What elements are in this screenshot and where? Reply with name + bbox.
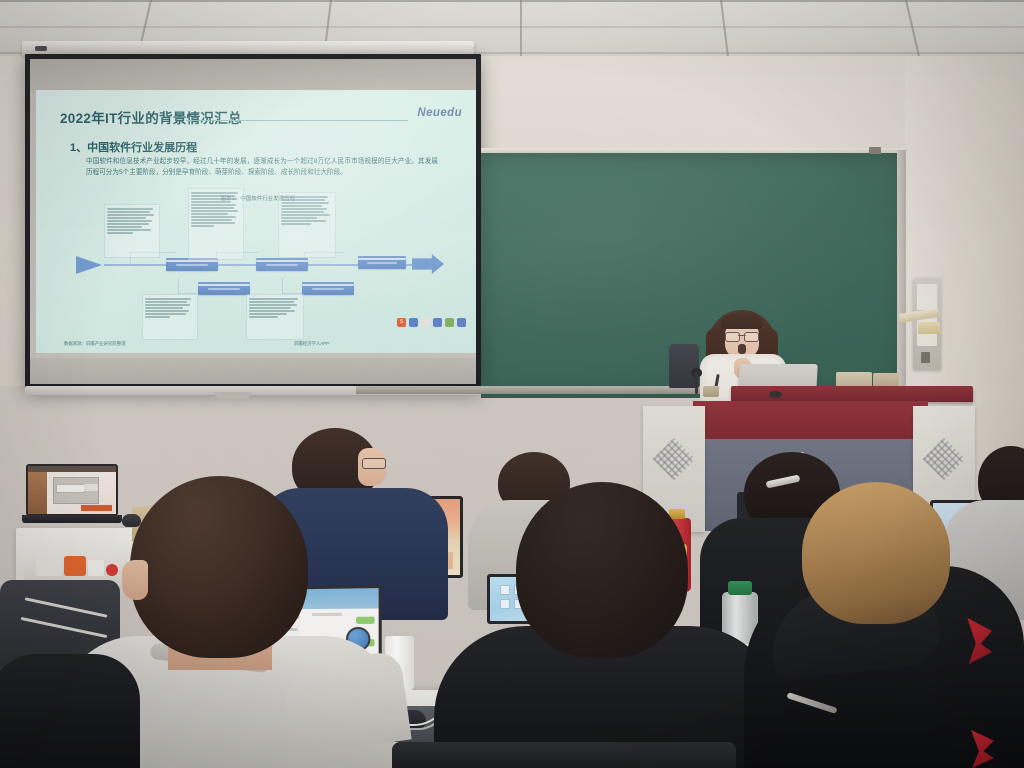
screen-pull-knob[interactable] (35, 46, 47, 51)
title-underline (186, 120, 408, 121)
stage-text-block-2 (142, 294, 198, 340)
slide-section-heading: 1、中国软件行业发展历程 (70, 139, 197, 155)
app-logo-3-icon (433, 318, 442, 327)
student-bottom-left-shoulder (0, 654, 140, 768)
projection-screen: 2022年IT行业的背景情况汇总 Neuedu 1、中国软件行业发展历程 中国软… (25, 54, 481, 389)
student-foreground-left-ear (122, 560, 148, 600)
timeline-diagram (68, 202, 450, 334)
stage-text-block-3 (188, 188, 244, 260)
app-logo-s-icon: S (397, 318, 406, 327)
student-bottom-edge (392, 742, 736, 768)
student-foreground-left-head (130, 476, 308, 658)
stage-text-block-1 (104, 204, 160, 258)
classroom-photo-scene: 2022年IT行业的背景情况汇总 Neuedu 1、中国软件行业发展历程 中国软… (0, 0, 1024, 768)
timeline-end-arrow-icon (412, 254, 444, 274)
shelf-items (30, 556, 126, 578)
source-app-logos: S (397, 318, 466, 327)
slide-title: 2022年IT行业的背景情况汇总 (60, 107, 242, 127)
instructor-glasses-icon (725, 332, 759, 340)
timeline-node-4 (302, 282, 354, 295)
app-logo-5-icon (457, 318, 466, 327)
laptop-left-screen (28, 466, 116, 514)
microphone-stand (695, 372, 698, 394)
lectern-top-rail (731, 386, 973, 402)
app-logo-1-icon (409, 318, 418, 327)
diamond-pattern-icon (923, 438, 965, 480)
slide-footer-source: 数据来源：前瞻产业研究院整理 (64, 341, 125, 347)
stage-text-block-4 (246, 294, 304, 340)
student-foreground-center-head (516, 482, 688, 658)
lectern-camera-icon (769, 391, 782, 398)
slide-body-paragraph: 中国软件和信息技术产业起步较早，经过几十年的发展，逐渐成长为一个超过8万亿人民币… (86, 156, 438, 178)
blackboard-clip (869, 147, 881, 154)
app-logo-2-icon (421, 318, 430, 327)
panel-indicator-icon (921, 352, 930, 363)
paper-cup (703, 386, 719, 397)
cardboard-box-2 (873, 373, 899, 387)
blackboard-right-edge (897, 150, 906, 400)
brand-logo-neuedu: Neuedu (417, 107, 462, 119)
app-logo-4-icon (445, 318, 454, 327)
diamond-pattern-icon (653, 438, 695, 480)
timeline-node-5 (358, 256, 406, 269)
projected-slide: 2022年IT行业的背景情况汇总 Neuedu 1、中国软件行业发展历程 中国软… (36, 90, 476, 353)
figure-caption: 图表1：中国软件行业发展历程 (36, 194, 476, 202)
panel-plate-icon (918, 322, 940, 334)
student-glasses-icon (362, 458, 386, 469)
bottle-cap-green (728, 581, 752, 595)
screen-pull-handle[interactable] (215, 392, 251, 399)
student-foreground-right-head (802, 482, 950, 624)
timeline-node-3 (256, 258, 308, 271)
cardboard-box-1 (836, 372, 872, 387)
timeline-node-2 (198, 282, 250, 295)
timeline-start-arrow-icon (76, 256, 102, 274)
slide-footer-app: 前瞻经济学人APP (294, 341, 329, 347)
mouse-left-desk[interactable] (122, 514, 141, 527)
laptop-left-desk[interactable] (26, 464, 118, 522)
lectern-front-panel (693, 401, 928, 441)
stage-text-block-5 (278, 192, 336, 258)
